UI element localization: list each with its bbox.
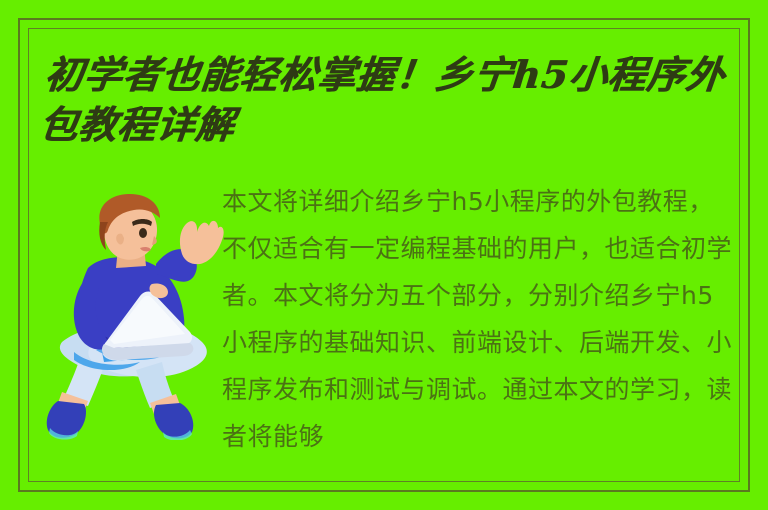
poster-canvas: 初学者也能轻松掌握！乡宁h5小程序外包教程详解 本文将详细介绍乡宁h5小程序的外… — [0, 0, 768, 510]
hand-waving — [180, 221, 224, 264]
eye — [139, 228, 147, 238]
person-sitting-with-laptop-illustration — [44, 192, 226, 440]
page-title: 初学者也能轻松掌握！乡宁h5小程序外包教程详解 — [37, 50, 738, 150]
illustration-svg — [44, 192, 226, 440]
article-body-text: 本文将详细介绍乡宁h5小程序的外包教程，不仅适合有一定编程基础的用户，也适合初学… — [222, 178, 734, 460]
